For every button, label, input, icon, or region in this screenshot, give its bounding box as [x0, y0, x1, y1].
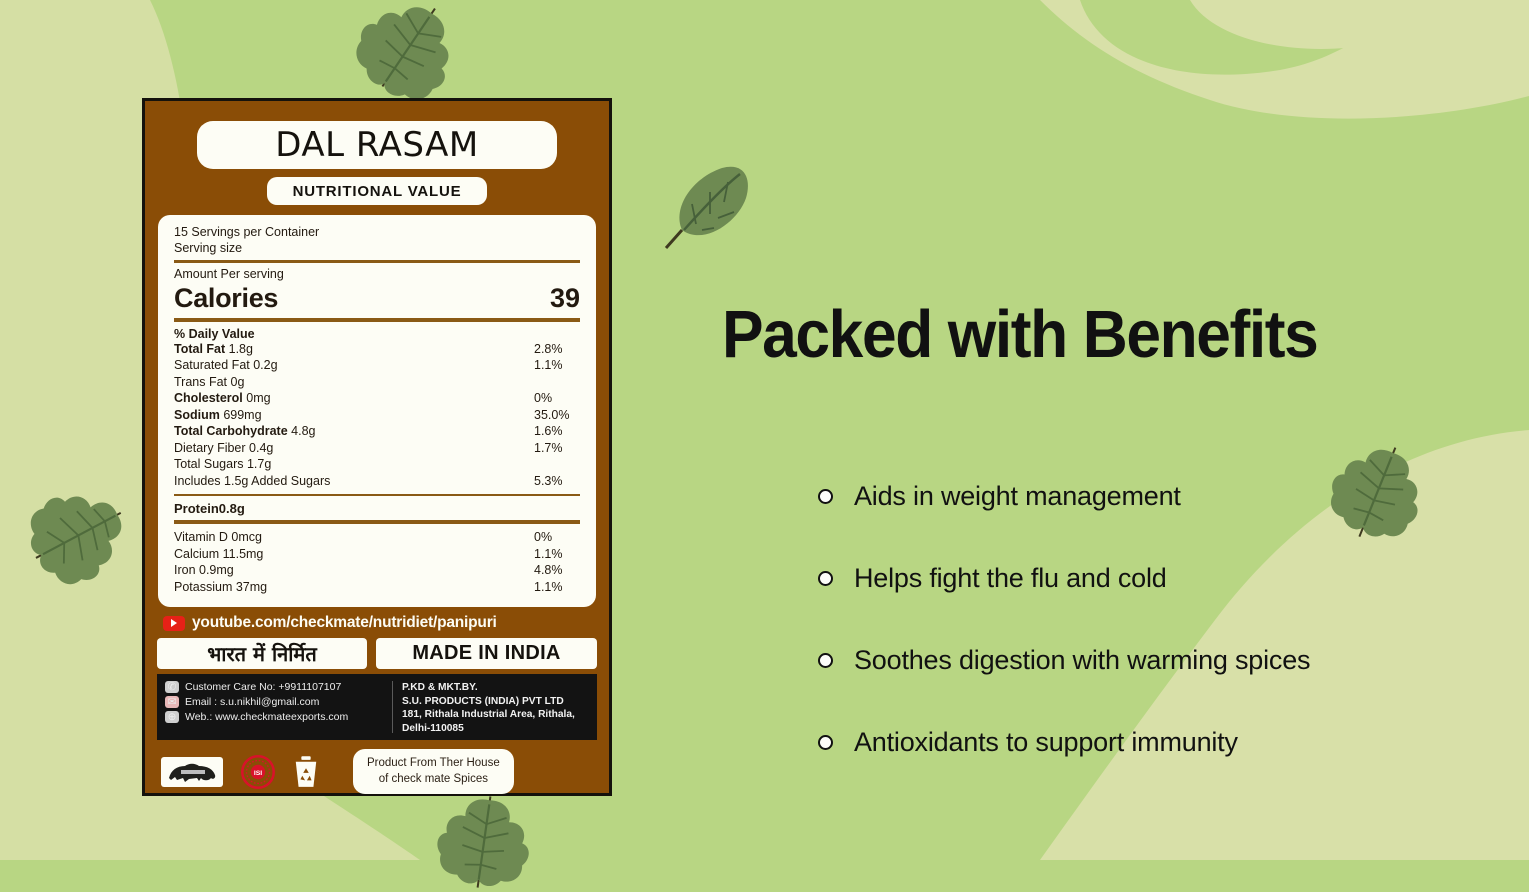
benefit-item: Soothes digestion with warming spices — [818, 619, 1458, 701]
bullet-circle-icon — [818, 653, 833, 668]
contact-block: ✆ Customer Care No: +9911107107 ✉ Email … — [157, 674, 597, 740]
nutrient-row: Total Fat 1.8g2.8% — [174, 341, 580, 358]
micronutrient-name: Vitamin D 0mcg — [174, 529, 262, 546]
made-in-india-hindi: भारत में निर्मित — [207, 640, 317, 667]
bullet-circle-icon — [818, 735, 833, 750]
daily-value-header: % Daily Value — [174, 327, 580, 341]
micronutrient-row: Vitamin D 0mcg0% — [174, 529, 580, 546]
house-plate: Product From Ther Houseof check mate Spi… — [353, 749, 514, 794]
manufacturer-details: P.KD & MKT.BY.S.U. PRODUCTS (INDIA) PVT … — [393, 681, 575, 733]
oak-leaf-icon-bottom — [428, 792, 540, 892]
contact-line-phone: ✆ Customer Care No: +9911107107 — [165, 681, 386, 693]
nutrient-name: Trans Fat 0g — [174, 374, 244, 391]
house-plate-line: Product From Ther House — [367, 756, 500, 772]
youtube-icon — [163, 616, 185, 631]
customer-care-text: Customer Care No: +9911107107 — [185, 681, 341, 693]
nutrient-name: Total Fat 1.8g — [174, 341, 253, 358]
servings-per-container: 15 Servings per Container — [174, 225, 580, 241]
benefits-list: Aids in weight managementHelps fight the… — [818, 455, 1458, 783]
nutrition-facts-panel: 15 Servings per Container Serving size A… — [158, 215, 596, 607]
micronutrient-percent: 1.1% — [534, 579, 580, 596]
bullet-circle-icon — [818, 489, 833, 504]
benefit-text: Helps fight the flu and cold — [854, 563, 1167, 594]
nutrient-percent: 1.1% — [534, 357, 580, 374]
calories-value: 39 — [550, 283, 580, 314]
amount-per-serving: Amount Per serving — [174, 267, 580, 283]
nutrient-row: Dietary Fiber 0.4g1.7% — [174, 440, 580, 457]
contact-details: ✆ Customer Care No: +9911107107 ✉ Email … — [165, 681, 393, 733]
manufacturer-line: 181, Rithala Industrial Area, Rithala, — [402, 708, 575, 721]
svg-text:ISI: ISI — [254, 770, 262, 777]
youtube-url[interactable]: youtube.com/checkmate/nutridiet/panipuri — [192, 614, 497, 632]
recycle-bin-icon — [293, 755, 319, 789]
benefit-text: Soothes digestion with warming spices — [854, 645, 1310, 676]
section-title: NUTRITIONAL VALUE — [293, 183, 462, 200]
page-title: Packed with Benefits — [722, 296, 1317, 373]
manufacturer-line: S.U. PRODUCTS (INDIA) PVT LTD — [402, 695, 575, 708]
micronutrient-name: Potassium 37mg — [174, 579, 267, 596]
made-in-india-english: MADE IN INDIA — [412, 642, 560, 665]
benefit-text: Aids in weight management — [854, 481, 1181, 512]
made-in-india-hindi-plate: भारत में निर्मित — [157, 638, 367, 669]
nutrient-percent: 35.0% — [534, 407, 580, 424]
micronutrient-name: Calcium 11.5mg — [174, 546, 263, 563]
nutrient-rows: Total Fat 1.8g2.8%Saturated Fat 0.2g1.1%… — [174, 341, 580, 490]
email-text: Email : s.u.nikhil@gmail.com — [185, 696, 319, 708]
section-title-plate: NUTRITIONAL VALUE — [267, 177, 487, 205]
phone-icon: ✆ — [165, 681, 179, 693]
nutrient-name: Total Sugars 1.7g — [174, 456, 271, 473]
product-title: DAL RASAM — [275, 125, 478, 165]
nutrient-percent: 2.8% — [534, 341, 580, 358]
nutrient-percent: 1.6% — [534, 423, 580, 440]
nutrition-label-card: DAL RASAM NUTRITIONAL VALUE 15 Servings … — [142, 98, 612, 796]
mail-icon: ✉ — [165, 696, 179, 708]
nutrient-name: Sodium 699mg — [174, 407, 262, 424]
nutrient-row: Includes 1.5g Added Sugars5.3% — [174, 473, 580, 490]
nutrient-row: Cholesterol 0mg0% — [174, 390, 580, 407]
micronutrient-row: Iron 0.9mg4.8% — [174, 562, 580, 579]
house-plate-line: of check mate Spices — [367, 772, 500, 788]
isi-mark-icon: ISI — [241, 755, 275, 789]
made-in-india-row: भारत में निर्मित MADE IN INDIA — [157, 638, 597, 669]
lion-capital-mark — [161, 757, 223, 787]
calories-label: Calories — [174, 283, 278, 314]
micronutrient-name: Iron 0.9mg — [174, 562, 234, 579]
manufacturer-line: P.KD & MKT.BY. — [402, 681, 575, 694]
nutrient-name: Saturated Fat 0.2g — [174, 357, 278, 374]
nutrient-percent — [534, 374, 580, 391]
oak-leaf-icon-left — [22, 482, 140, 586]
micronutrient-row: Potassium 37mg1.1% — [174, 579, 580, 596]
nutrient-row: Total Sugars 1.7g — [174, 456, 580, 473]
nutrient-name: Dietary Fiber 0.4g — [174, 440, 273, 457]
nutrient-row: Total Carbohydrate 4.8g1.6% — [174, 423, 580, 440]
divider-protein-top — [174, 494, 580, 496]
globe-icon: ⊕ — [165, 711, 179, 723]
bullet-circle-icon — [818, 571, 833, 586]
certification-row: ISI Product From Ther Houseof check mate… — [157, 749, 597, 794]
youtube-strip[interactable]: youtube.com/checkmate/nutridiet/panipuri — [163, 614, 597, 632]
web-text: Web.: www.checkmateexports.com — [185, 711, 348, 723]
benefit-item: Helps fight the flu and cold — [818, 537, 1458, 619]
divider-protein-bottom — [174, 520, 580, 524]
nutrient-percent: 1.7% — [534, 440, 580, 457]
micronutrient-percent: 1.1% — [534, 546, 580, 563]
protein-row: Protein0.8g — [174, 501, 580, 516]
micronutrient-row: Calcium 11.5mg1.1% — [174, 546, 580, 563]
divider-calories — [174, 318, 580, 322]
nutrient-row: Sodium 699mg35.0% — [174, 407, 580, 424]
oak-leaf-icon-top — [352, 0, 462, 106]
contact-line-web: ⊕ Web.: www.checkmateexports.com — [165, 711, 386, 723]
nutrient-percent: 5.3% — [534, 473, 580, 490]
contact-line-email: ✉ Email : s.u.nikhil@gmail.com — [165, 696, 386, 708]
product-title-plate: DAL RASAM — [197, 121, 557, 169]
nutrient-name: Cholesterol 0mg — [174, 390, 271, 407]
micronutrient-rows: Vitamin D 0mcg0%Calcium 11.5mg1.1%Iron 0… — [174, 529, 580, 595]
benefit-text: Antioxidants to support immunity — [854, 727, 1238, 758]
micronutrient-percent: 4.8% — [534, 562, 580, 579]
nutrient-row: Trans Fat 0g — [174, 374, 580, 391]
benefit-item: Aids in weight management — [818, 455, 1458, 537]
benefit-item: Antioxidants to support immunity — [818, 701, 1458, 783]
pointed-leaf-icon-upper — [652, 160, 756, 260]
nutrient-row: Saturated Fat 0.2g1.1% — [174, 357, 580, 374]
nutrient-name: Includes 1.5g Added Sugars — [174, 473, 330, 490]
nutrient-percent: 0% — [534, 390, 580, 407]
nutrient-percent — [534, 456, 580, 473]
divider-serving — [174, 260, 580, 263]
nutrient-name: Total Carbohydrate 4.8g — [174, 423, 315, 440]
manufacturer-line: Delhi-110085 — [402, 722, 575, 735]
made-in-india-english-plate: MADE IN INDIA — [376, 638, 597, 669]
serving-size: Serving size — [174, 241, 580, 257]
micronutrient-percent: 0% — [534, 529, 580, 546]
calories-row: Calories 39 — [174, 283, 580, 314]
